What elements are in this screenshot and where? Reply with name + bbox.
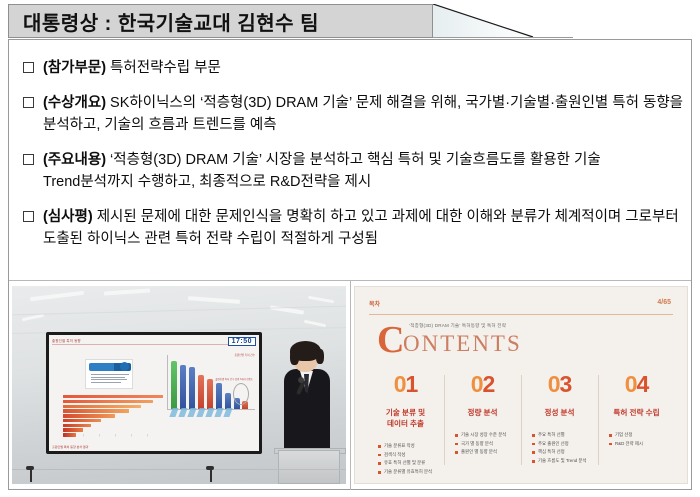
contents-column-1: 01 기술 분류 및데이터 추출 기술 분류표 작성 검색식 작성 유효 특허 …	[367, 373, 444, 467]
presenter-hair-left	[290, 349, 299, 365]
bullet-lead: (수상개요)	[43, 95, 106, 111]
contents-subtitle: ‘적층형(3D) DRAM 기술’ 특허동향 및 특허 전략	[409, 323, 506, 329]
checkbox-bullet-icon	[23, 211, 34, 222]
screen-rule	[52, 344, 256, 345]
horizontal-bar-chart	[63, 395, 163, 438]
mic-stand-right	[210, 468, 212, 482]
presenter-hair-right	[316, 349, 324, 364]
list-item: (수상개요) SK하이닉스의 ‘적층형(3D) DRAM 기술’ 문제 해결을 …	[23, 92, 683, 136]
slide-page-number: 4/65	[657, 299, 671, 306]
presentation-photo-cell: 출원인별 특허 동향 17:50	[9, 280, 350, 490]
list-item: 주요 특허 선별	[532, 431, 593, 440]
chart-annotation: 출원인별 특허 건수 상위 3개사 집중도	[215, 377, 253, 381]
column-number: 01	[372, 373, 439, 396]
checkbox-bullet-icon	[23, 62, 34, 73]
column-bullets: 기술 시장 성장 수준 분석 국가 별 동향 분석 출원인 별 동향 분석	[449, 431, 516, 457]
column-bullets: 기술 분류표 작성 검색식 작성 유효 특허 선별 및 분류 기술 분류별 유효…	[372, 442, 439, 476]
bullet-body: SK하이닉스의 ‘적층형(3D) DRAM 기술’ 문제 해결을 위해, 국가별…	[43, 95, 683, 133]
tv-screen: 출원인별 특허 동향 17:50	[49, 335, 259, 451]
contents-columns: 01 기술 분류 및데이터 추출 기술 분류표 작성 검색식 작성 유효 특허 …	[367, 373, 675, 467]
list-item: 기술 분류표 작성	[378, 442, 439, 451]
list-item: 기술 시장 성장 수준 분석	[455, 431, 516, 440]
list-item: 기술 흐름도 및 Trend 분석	[532, 457, 593, 466]
bullet-body: 특허전략수립 부문	[106, 60, 221, 76]
header-diagonal-decoration	[433, 4, 573, 38]
checkbox-bullet-icon	[23, 154, 34, 165]
bullet-body: 제시된 문제에 대한 문제인식을 명확히 하고 있고 과제에 대한 이해와 분류…	[43, 209, 679, 247]
column-number: 03	[526, 373, 593, 396]
list-item: (심사평) 제시된 문제에 대한 문제인식을 명확히 하고 있고 과제에 대한 …	[23, 206, 683, 250]
column-bullets: 주요 특허 선별 주요 출원인 선정 핵심 특허 선정 기술 흐름도 및 Tre…	[526, 431, 593, 465]
podium	[278, 450, 340, 484]
column-bullets: 기업 선정 R&D 전략 제시	[603, 431, 670, 448]
microphone-head-icon	[298, 377, 304, 383]
list-item: 국가 별 동향 분석	[455, 440, 516, 449]
list-item: (참가부문) 특허전략수립 부문	[23, 57, 683, 79]
tv-monitor: 출원인별 특허 동향 17:50	[46, 332, 262, 454]
vertical-bar-chart: 출원인별 특허 건수	[167, 355, 257, 421]
content-frame: (참가부문) 특허전략수립 부문 (수상개요) SK하이닉스의 ‘적층형(3D)…	[8, 39, 692, 490]
contents-initial-letter: C	[377, 319, 403, 361]
floor-rail	[12, 469, 346, 471]
column-title: 특허 전략 수립	[603, 407, 670, 418]
list-item: 핵심 특허 선정	[532, 448, 593, 457]
bullet-body: ‘적층형(3D) DRAM 기술’ 시장을 분석하고 핵심 특허 및 기술흐름도…	[43, 152, 601, 190]
image-row: 출원인별 특허 동향 17:50	[9, 280, 691, 490]
presentation-timer: 17:50	[228, 337, 256, 346]
slide-header-rule	[369, 314, 673, 315]
header: 대통령상 : 한국기술교대 김현수 팀	[0, 0, 700, 40]
list-item: R&D 전략 제시	[609, 440, 670, 449]
bullet-lead: (참가부문)	[43, 60, 106, 76]
logo-text-lines	[91, 374, 129, 385]
column-title: 기술 분류 및데이터 추출	[372, 407, 439, 429]
list-item: (주요내용) ‘적층형(3D) DRAM 기술’ 시장을 분석하고 핵심 특허 …	[23, 149, 683, 193]
column-number: 02	[449, 373, 516, 396]
column-title: 정량 분석	[449, 407, 516, 418]
list-item: 검색식 작성	[378, 451, 439, 460]
contents-slide: 목차 4/65 C ONTENTS ‘적층형(3D) DRAM 기술’ 특허동향…	[354, 286, 688, 484]
presentation-photo: 출원인별 특허 동향 17:50	[12, 286, 346, 484]
contents-heading: C	[377, 321, 403, 359]
contents-slide-cell: 목차 4/65 C ONTENTS ‘적층형(3D) DRAM 기술’ 특허동향…	[350, 280, 691, 490]
contents-heading-rest: ONTENTS	[403, 331, 522, 357]
page-title: 대통령상 : 한국기술교대 김현수 팀	[23, 7, 319, 36]
list-item: 출원인 별 동향 분석	[455, 448, 516, 457]
bullet-lead: (심사평)	[43, 209, 93, 225]
mic-stand-head-right	[206, 466, 214, 470]
screen-slide-footer: 출원인별 특허 동향 분석 결과	[52, 445, 88, 449]
contents-column-3: 03 정성 분석 주요 특허 선별 주요 출원인 선정 핵심 특허 선정 기술 …	[521, 373, 598, 467]
chart-highlight-ellipse	[233, 383, 249, 405]
column-title: 정성 분석	[526, 407, 593, 418]
bullet-list: (참가부문) 특허전략수립 부문 (수상개요) SK하이닉스의 ‘적층형(3D)…	[23, 57, 683, 263]
list-item: 유효 특허 선별 및 분류	[378, 459, 439, 468]
checkbox-bullet-icon	[23, 97, 34, 108]
bullet-lead: (주요내용)	[43, 152, 106, 168]
column-number: 04	[603, 373, 670, 396]
list-item: 주요 출원인 선정	[532, 440, 593, 449]
contents-column-4: 04 특허 전략 수립 기업 선정 R&D 전략 제시	[598, 373, 675, 467]
slide-section-label: 목차	[369, 299, 380, 308]
brand-dot-icon	[120, 362, 129, 371]
screen-slide-header: 출원인별 특허 동향	[52, 338, 81, 343]
list-item: 기술 분류별 유효특허 분석	[378, 468, 439, 477]
list-item: 기업 선정	[609, 431, 670, 440]
chart-title: 출원인별 특허 건수	[234, 353, 255, 357]
mic-stand-head-left	[26, 466, 34, 470]
header-band: 대통령상 : 한국기술교대 김현수 팀	[8, 4, 433, 38]
contents-column-2: 02 정량 분석 기술 시장 성장 수준 분석 국가 별 동향 분석 출원인 별…	[444, 373, 521, 467]
mic-stand-left	[30, 468, 32, 482]
screen-logo-card	[85, 359, 133, 389]
